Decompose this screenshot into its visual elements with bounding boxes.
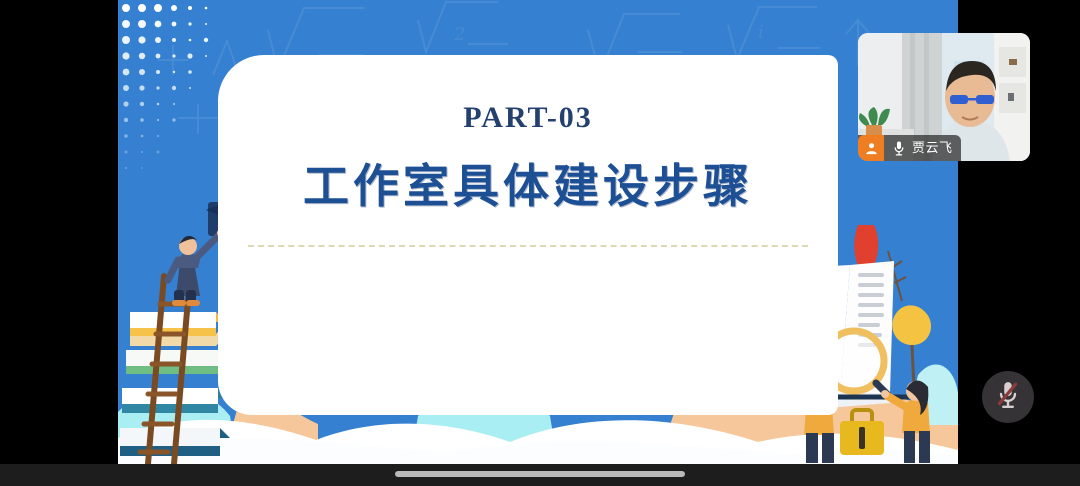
microphone-icon <box>890 138 908 158</box>
participant-video-tile[interactable]: 贾云飞 <box>858 33 1030 161</box>
meeting-screen: n 2 x i <box>0 0 1080 486</box>
bottom-bar <box>0 464 1080 486</box>
microphone-muted-icon <box>995 380 1021 415</box>
person-icon <box>858 135 884 161</box>
svg-text:2: 2 <box>453 24 465 45</box>
title-divider <box>248 245 808 247</box>
participant-name-badge: 贾云飞 <box>858 135 961 161</box>
participant-name: 贾云飞 <box>912 142 953 155</box>
home-indicator[interactable] <box>395 471 685 477</box>
mute-toggle-button[interactable] <box>982 371 1034 423</box>
slide-content-card: PART-03 工作室具体建设步骤 <box>218 55 838 415</box>
shared-slide[interactable]: n 2 x i <box>118 0 958 464</box>
slide-title: 工作室具体建设步骤 <box>218 163 838 211</box>
slide-part-label: PART-03 <box>218 103 838 133</box>
svg-text:i: i <box>758 22 764 43</box>
